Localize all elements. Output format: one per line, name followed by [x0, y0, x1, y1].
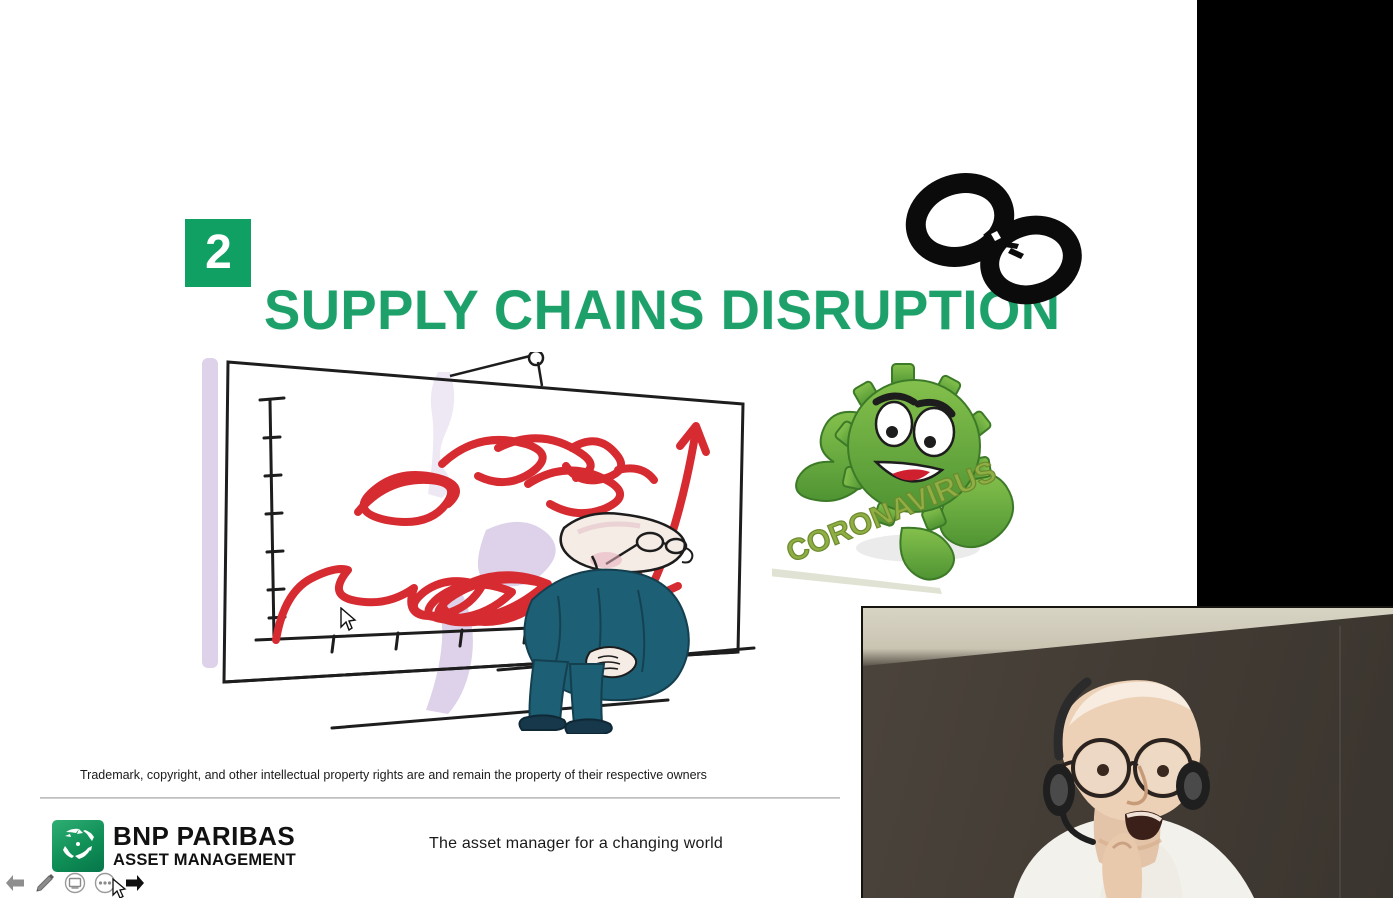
slide-title: SUPPLY CHAINS DISRUPTION: [264, 278, 1001, 342]
next-slide-button[interactable]: [122, 870, 148, 896]
annotate-pen-button[interactable]: [32, 870, 58, 896]
screen-icon: [64, 872, 86, 894]
section-number-badge: 2: [185, 219, 251, 287]
logo-division-name: ASSET MANAGEMENT: [113, 852, 296, 869]
presenter-figure: [863, 608, 1393, 898]
logo-brand-name: BNP PARIBAS: [113, 823, 296, 849]
arrow-right-icon: [124, 873, 146, 893]
arrow-left-icon: [4, 873, 26, 893]
businessman-chaotic-chart-illustration: [198, 352, 760, 734]
disclaimer-text: Trademark, copyright, and other intellec…: [80, 766, 980, 784]
slide-view-button[interactable]: [62, 870, 88, 896]
coronavirus-character-icon: CORONAVIRUS: [772, 362, 1030, 594]
screen-share-viewport: 2 SUPPLY CHAINS DISRUPTION: [0, 0, 1393, 898]
letterbox-bar-right: [1197, 0, 1393, 606]
bnp-paribas-logo: BNP PARIBAS ASSET MANAGEMENT: [52, 820, 296, 872]
pencil-icon: [34, 872, 56, 894]
previous-slide-button[interactable]: [2, 870, 28, 896]
ellipsis-icon: [94, 872, 116, 894]
more-options-button[interactable]: [92, 870, 118, 896]
footer-tagline: The asset manager for a changing world: [429, 835, 723, 853]
presenter-webcam-overlay[interactable]: [861, 606, 1393, 898]
broken-chain-icon: [903, 172, 1087, 308]
footer-divider: [40, 797, 840, 799]
bnp-star-logo-icon: [52, 820, 104, 872]
presentation-toolbar[interactable]: [0, 868, 148, 898]
